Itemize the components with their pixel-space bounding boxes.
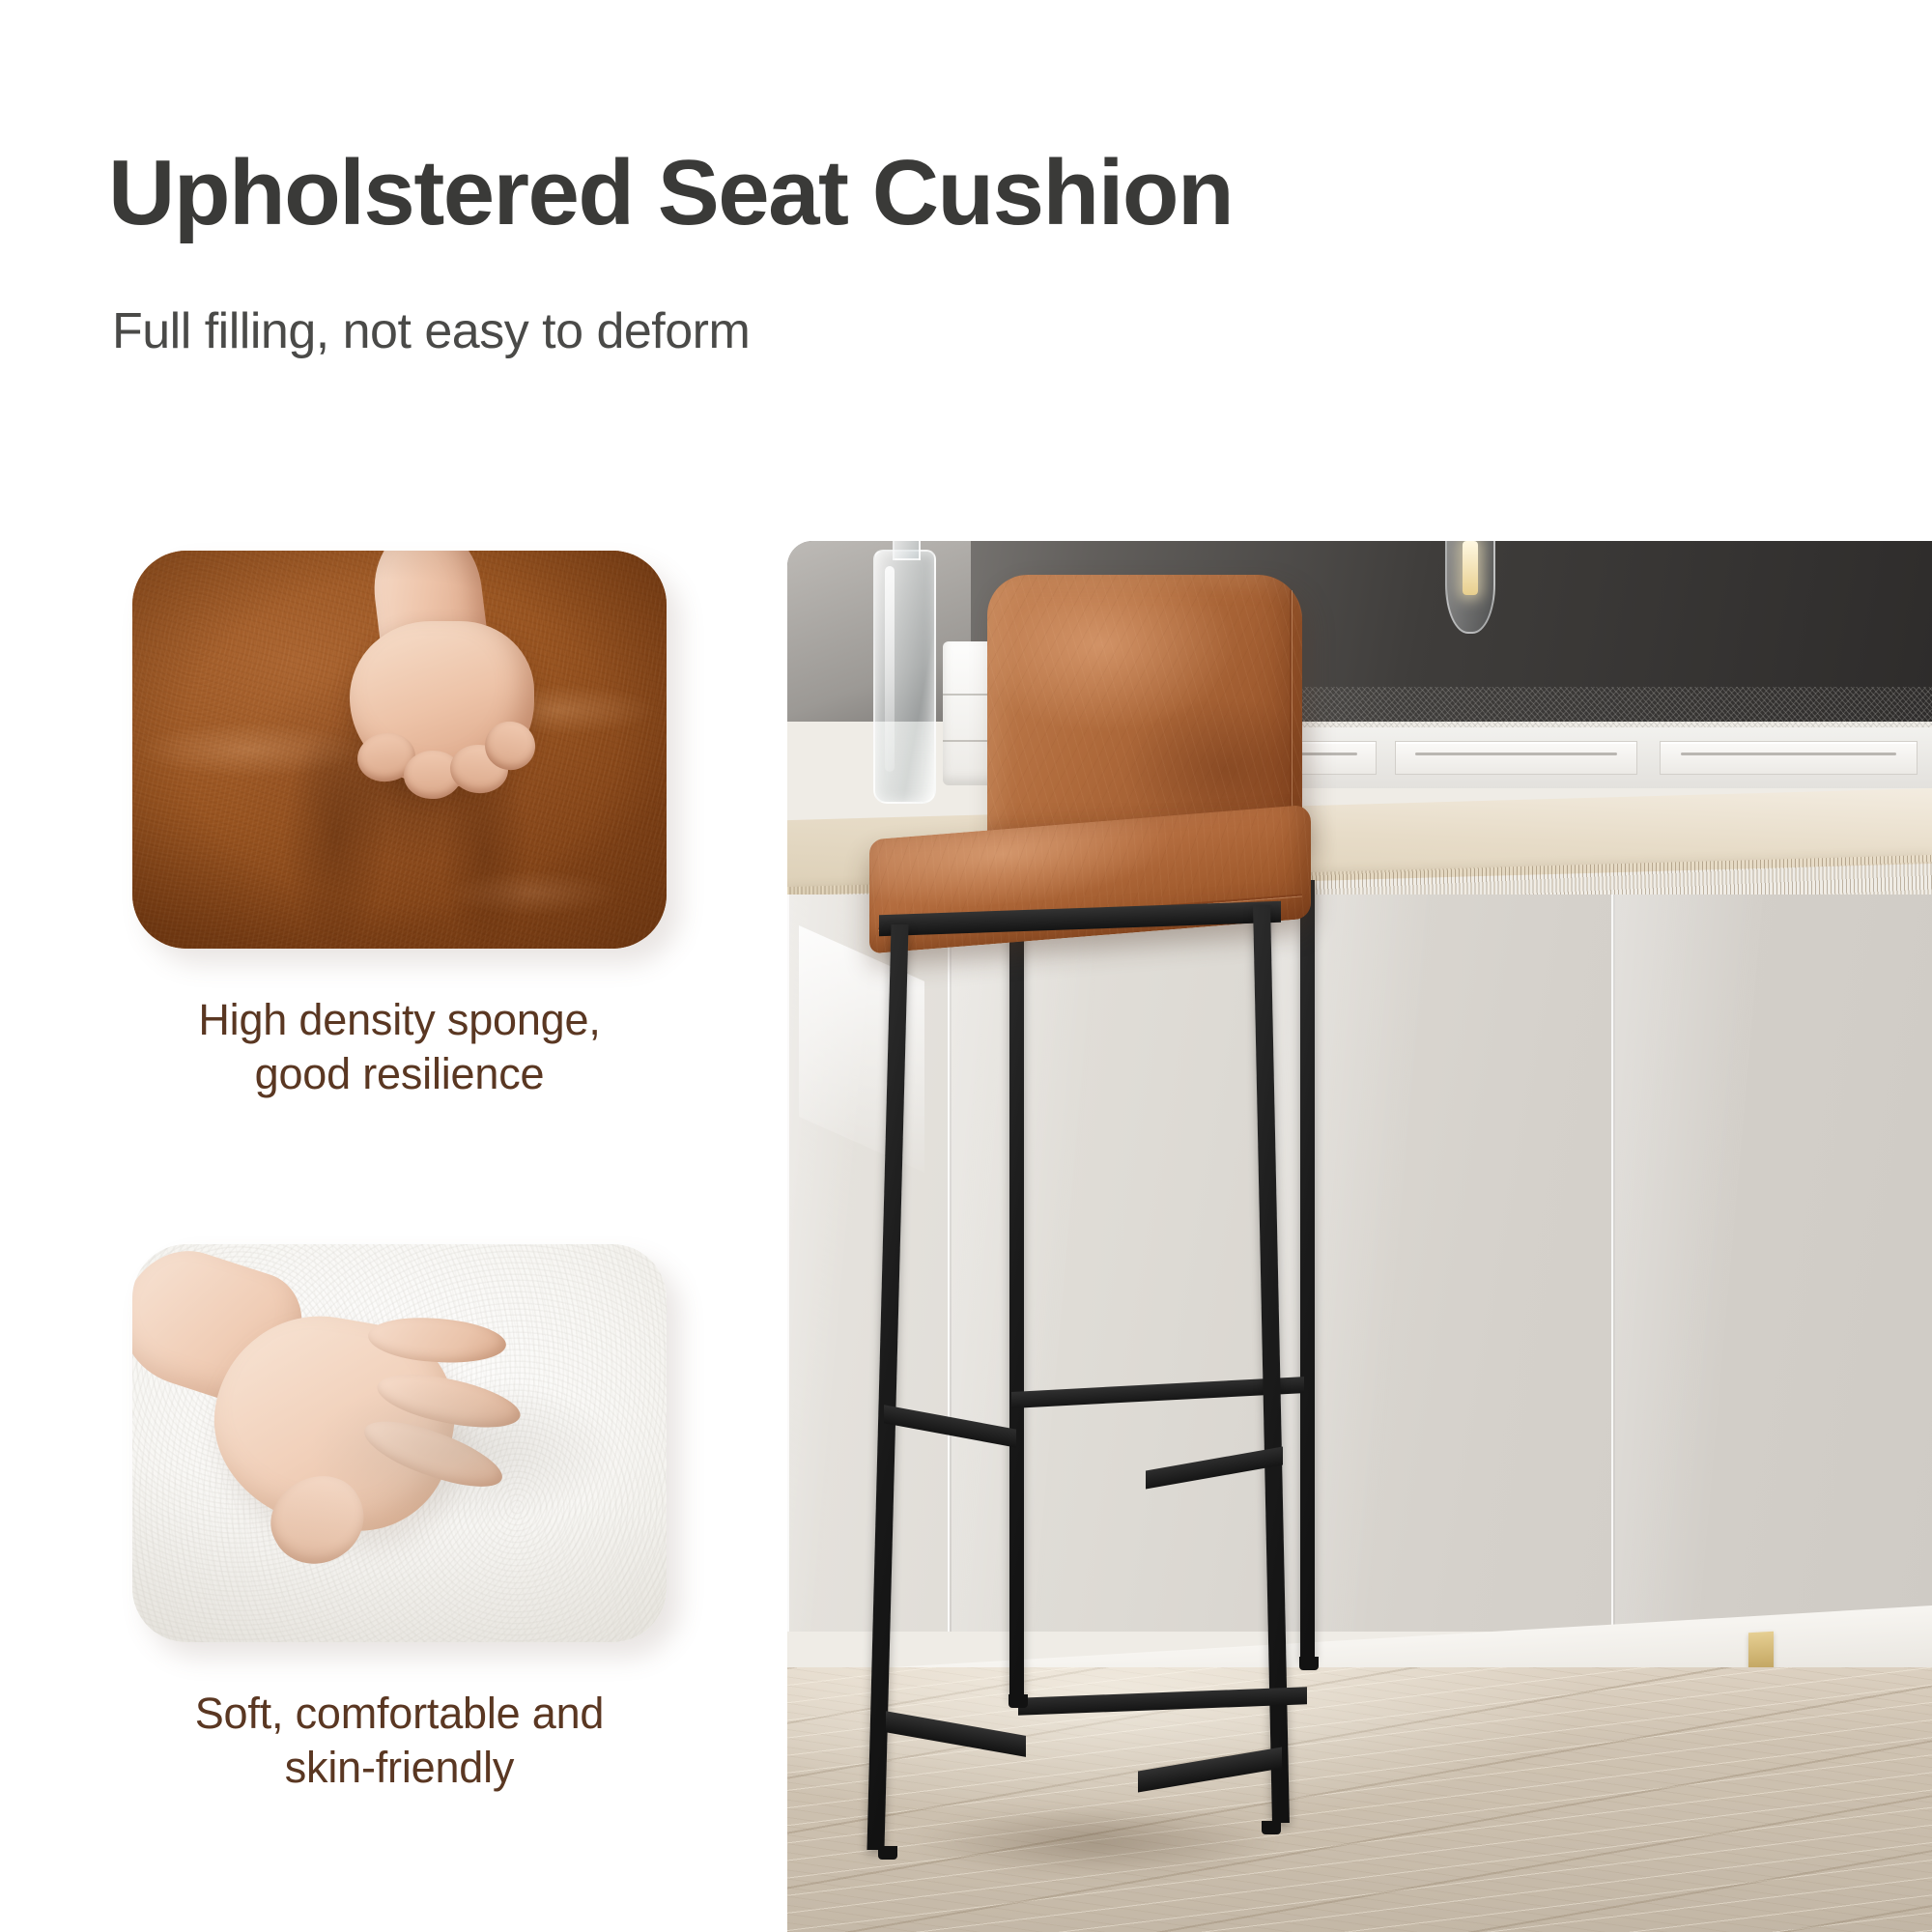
stool-footrest-left xyxy=(884,1405,1016,1448)
feature-caption: Soft, comfortable and skin-friendly xyxy=(132,1687,667,1795)
counter-stool xyxy=(787,541,1932,1932)
stool-foot-cap xyxy=(878,1846,897,1860)
stool-backrest xyxy=(987,575,1302,844)
stool-base-rail-right xyxy=(1138,1747,1282,1793)
foam-press-thumbnail xyxy=(132,1244,667,1642)
feature-caption: High density sponge, good resilience xyxy=(132,993,667,1101)
caption-line-2: skin-friendly xyxy=(132,1741,667,1795)
hero-product-photo xyxy=(787,541,1932,1932)
leather-press-thumbnail xyxy=(132,551,667,949)
caption-line-1: Soft, comfortable and xyxy=(132,1687,667,1741)
stool-base-rail-left xyxy=(886,1711,1026,1756)
caption-line-1: High density sponge, xyxy=(132,993,667,1047)
feature-column: High density sponge, good resilience Sof… xyxy=(0,0,773,1932)
stool-foot-cap xyxy=(1009,1694,1028,1708)
leather-vignette xyxy=(132,551,667,949)
leather-grain-texture xyxy=(987,575,1302,844)
caption-line-2: good resilience xyxy=(132,1047,667,1101)
stool-foot-cap xyxy=(1299,1657,1319,1670)
stool-rail-back xyxy=(1011,1377,1304,1408)
feature-card-high-density-sponge: High density sponge, good resilience xyxy=(132,551,667,1101)
foam-shading xyxy=(132,1244,667,1642)
stool-base-rail-back xyxy=(1018,1688,1307,1716)
stool-footrest-right xyxy=(1146,1447,1283,1491)
stool-leg-back-right xyxy=(1300,880,1315,1659)
stool-leg-back-left xyxy=(1009,892,1024,1698)
feature-card-soft-skin-friendly: Soft, comfortable and skin-friendly xyxy=(132,1244,667,1795)
stool-foot-cap xyxy=(1262,1821,1281,1834)
stool-leg-front-right xyxy=(1253,905,1290,1823)
backrest-seam xyxy=(1290,590,1292,822)
